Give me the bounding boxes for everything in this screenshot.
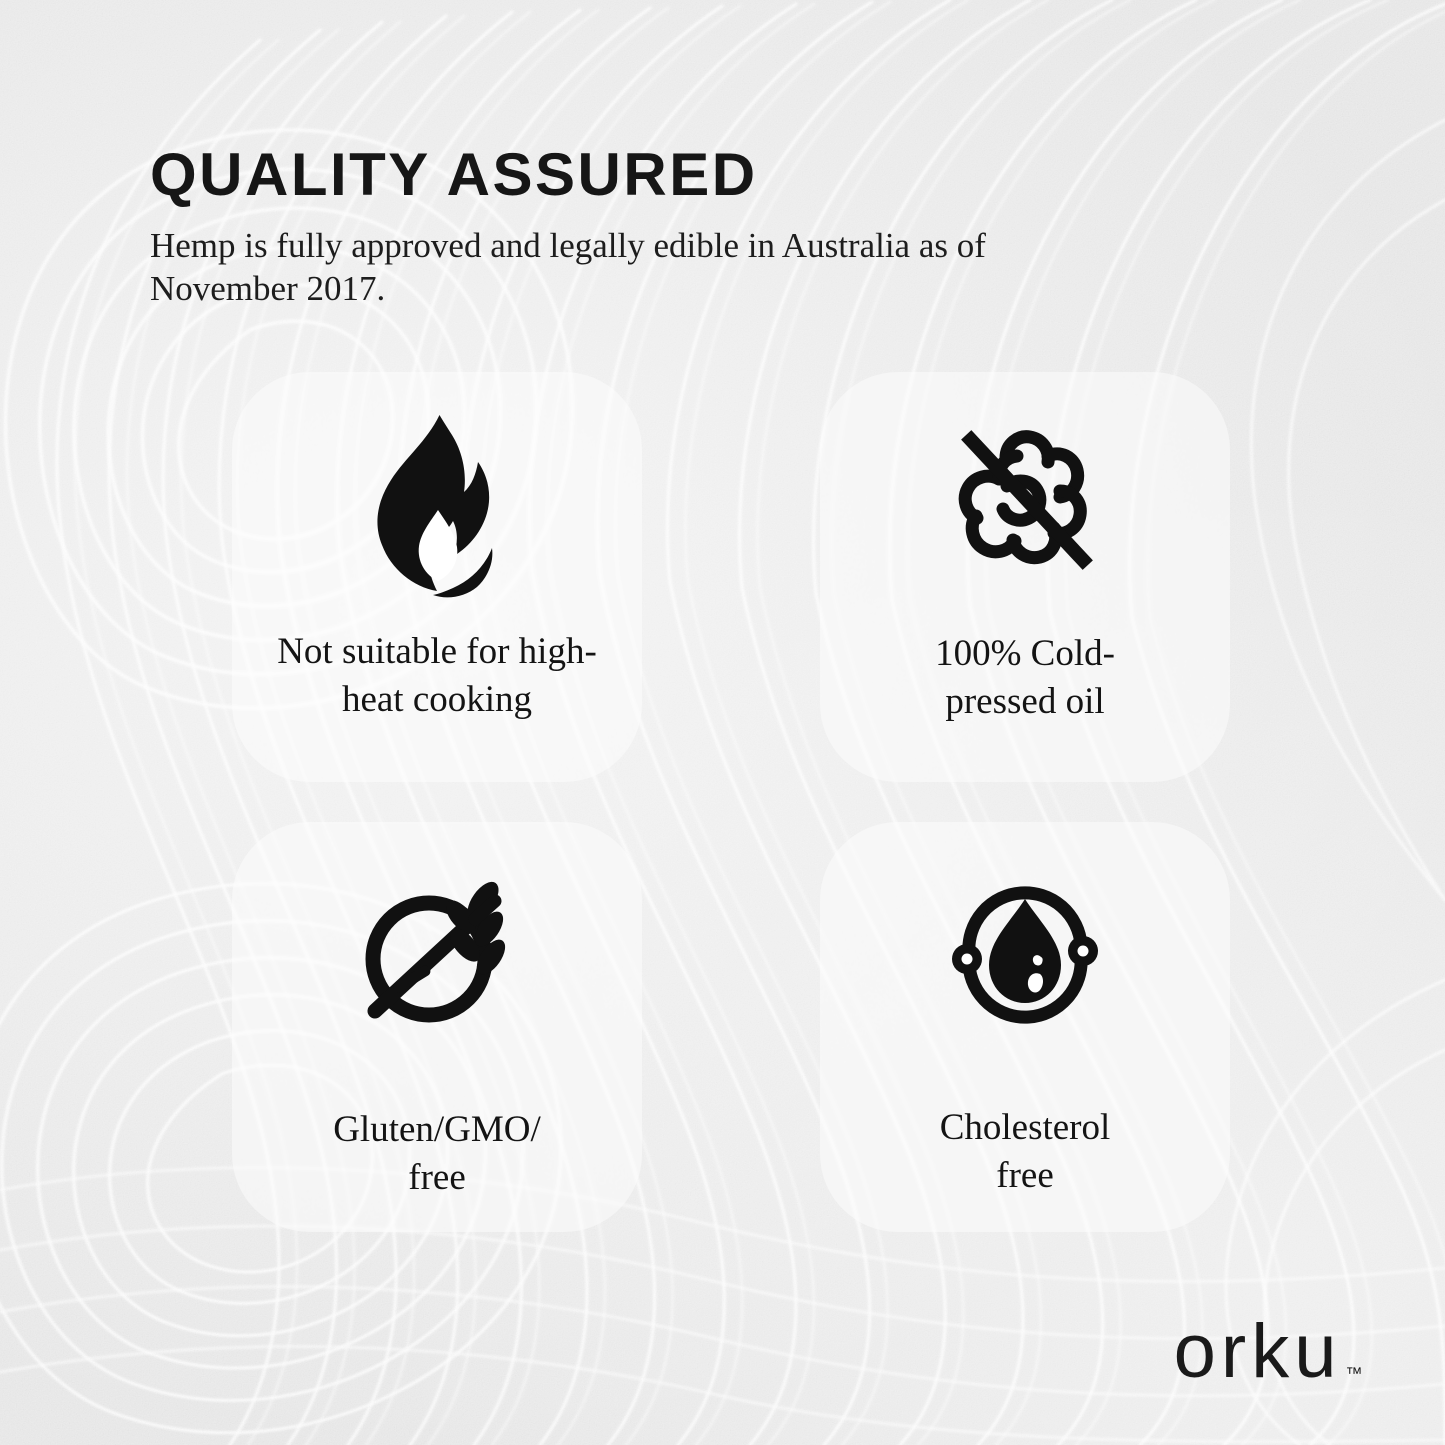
feature-label-line-1: Gluten/GMO/ [333, 1109, 541, 1150]
brand-wordmark: orku [1174, 1314, 1342, 1390]
feature-label-line-2: free [408, 1157, 466, 1198]
flame-icon [375, 394, 499, 620]
feature-label-line-2: pressed oil [945, 681, 1104, 722]
feature-label-line-2: free [996, 1155, 1054, 1196]
feature-card-cholesterol-free: Cholesterol free [820, 822, 1230, 1232]
feature-label: 100% Cold- pressed oil [860, 630, 1190, 726]
trademark-symbol: ™ [1346, 1365, 1364, 1382]
page-title: QUALITY ASSURED [150, 143, 758, 207]
poster-content: QUALITY ASSURED Hemp is fully approved a… [0, 0, 1445, 1445]
feature-label: Cholesterol free [860, 1104, 1190, 1200]
droplet-circuit-icon [945, 844, 1105, 1066]
no-heat-cluster-icon [949, 394, 1101, 606]
feature-label-line-1: Cholesterol [940, 1107, 1111, 1148]
feature-card-gluten-gmo-free: Gluten/GMO/ free [232, 822, 642, 1232]
feature-label-line-1: 100% Cold- [935, 633, 1115, 674]
feature-grid: Not suitable for high- heat cooking [232, 372, 1222, 1232]
brand-logo: orku ™ [1174, 1314, 1363, 1390]
feature-label-line-1: Not suitable for high- [277, 631, 597, 672]
feature-card-cold-pressed: 100% Cold- pressed oil [820, 372, 1230, 782]
no-wheat-icon [355, 844, 519, 1070]
feature-label-line-2: heat cooking [342, 679, 532, 720]
feature-label: Gluten/GMO/ free [272, 1106, 602, 1202]
poster-canvas: QUALITY ASSURED Hemp is fully approved a… [0, 0, 1445, 1445]
page-subtitle: Hemp is fully approved and legally edibl… [150, 224, 1080, 310]
feature-card-high-heat: Not suitable for high- heat cooking [232, 372, 642, 782]
feature-label: Not suitable for high- heat cooking [272, 628, 602, 724]
